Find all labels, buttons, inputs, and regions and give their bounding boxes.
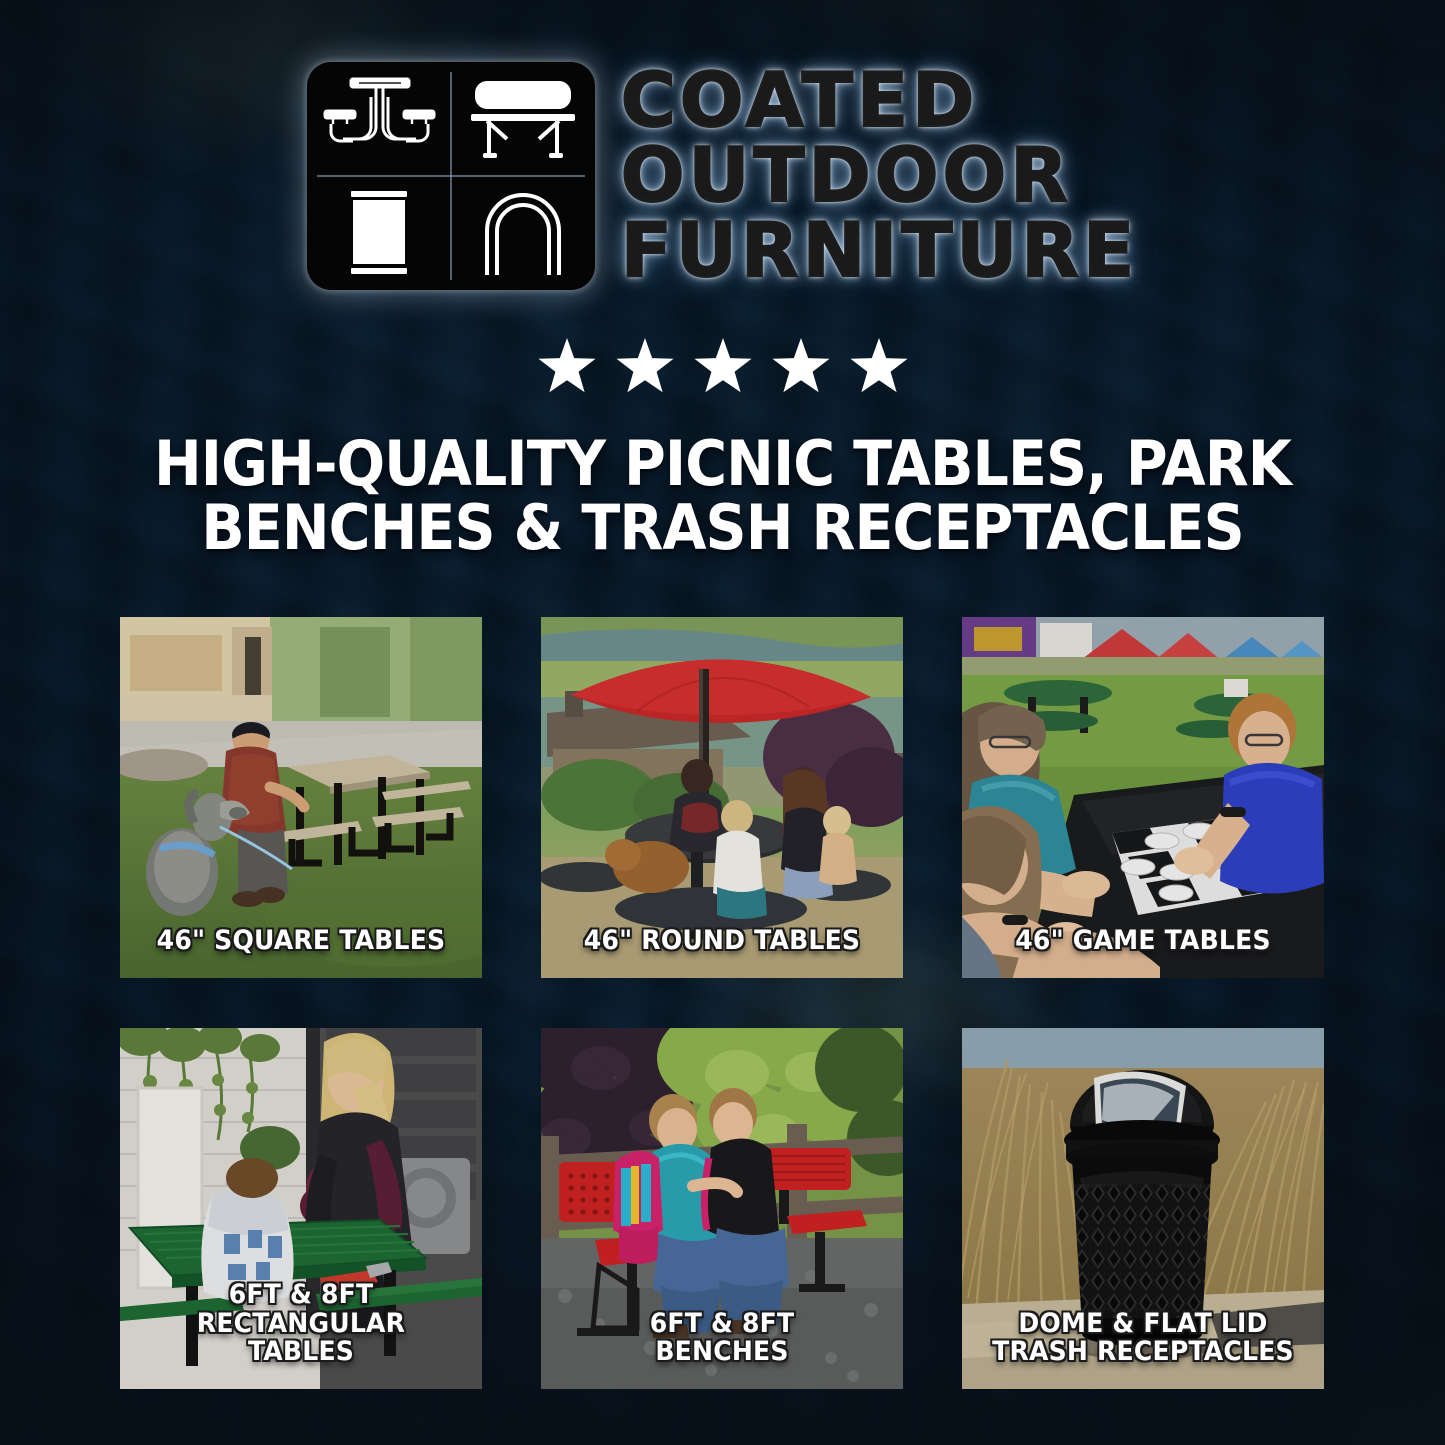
product-caption-line-1: 6FT & 8FT: [561, 1310, 883, 1339]
product-grid: 46" SQUARE TABLES: [120, 617, 1325, 1389]
star-icon: [848, 338, 910, 398]
brand-word-coated: COATED: [621, 66, 1139, 135]
product-caption-line-1: 46" GAME TABLES: [982, 927, 1304, 956]
trash-receptacle-icon: [307, 176, 451, 290]
star-icon: [536, 338, 598, 398]
product-caption: 6FT & 8FT BENCHES: [561, 1310, 883, 1367]
brand-word-furniture: FURNITURE: [621, 216, 1139, 285]
product-caption: 6FT & 8FT RECTANGULAR TABLES: [140, 1281, 462, 1367]
brand-wordmark: COATED OUTDOOR FURNITURE: [621, 62, 1139, 285]
product-caption-line-1: 46" ROUND TABLES: [561, 927, 883, 956]
star-icon: [770, 338, 832, 398]
product-caption: 46" ROUND TABLES: [561, 927, 883, 956]
product-photo-square-tables: [120, 617, 482, 978]
product-photo-round-tables: [541, 617, 903, 978]
product-card-game-tables[interactable]: 46" GAME TABLES: [962, 617, 1324, 978]
product-caption: 46" SQUARE TABLES: [140, 927, 462, 956]
star-icon: [692, 338, 754, 398]
picnic-table-icon: [307, 62, 451, 176]
product-card-square-tables[interactable]: 46" SQUARE TABLES: [120, 617, 482, 978]
product-card-rectangular-tables[interactable]: 6FT & 8FT RECTANGULAR TABLES: [120, 1028, 482, 1389]
product-caption-line-1: 6FT & 8FT: [140, 1281, 462, 1310]
star-rating: [0, 338, 1445, 398]
star-icon: [614, 338, 676, 398]
product-caption-line-2: TRASH RECEPTACLES: [982, 1338, 1304, 1367]
brand-word-outdoor: OUTDOOR: [621, 141, 1139, 210]
product-caption-line-2: BENCHES: [561, 1338, 883, 1367]
product-caption-line-2: RECTANGULAR TABLES: [140, 1310, 462, 1367]
product-card-trash-receptacles[interactable]: DOME & FLAT LID TRASH RECEPTACLES: [962, 1028, 1324, 1389]
bike-rack-icon: [451, 176, 595, 290]
page-title: HIGH-QUALITY PICNIC TABLES, PARK BENCHES…: [113, 432, 1332, 561]
product-card-benches[interactable]: 6FT & 8FT BENCHES: [541, 1028, 903, 1389]
promotional-ad-graphic: COATED OUTDOOR FURNITURE HIGH-QUALITY PI…: [0, 0, 1445, 1445]
headline-line-2: BENCHES & TRASH RECEPTACLES: [113, 496, 1332, 560]
product-card-round-tables[interactable]: 46" ROUND TABLES: [541, 617, 903, 978]
product-caption: DOME & FLAT LID TRASH RECEPTACLES: [982, 1310, 1304, 1367]
product-caption-line-1: DOME & FLAT LID: [982, 1310, 1304, 1339]
brand-logo: COATED OUTDOOR FURNITURE: [0, 62, 1445, 290]
product-caption: 46" GAME TABLES: [982, 927, 1304, 956]
logo-mark-icon-grid: [307, 62, 595, 290]
headline-line-1: HIGH-QUALITY PICNIC TABLES, PARK: [113, 432, 1332, 496]
product-caption-line-1: 46" SQUARE TABLES: [140, 927, 462, 956]
product-photo-game-tables: [962, 617, 1324, 978]
park-bench-icon: [451, 62, 595, 176]
